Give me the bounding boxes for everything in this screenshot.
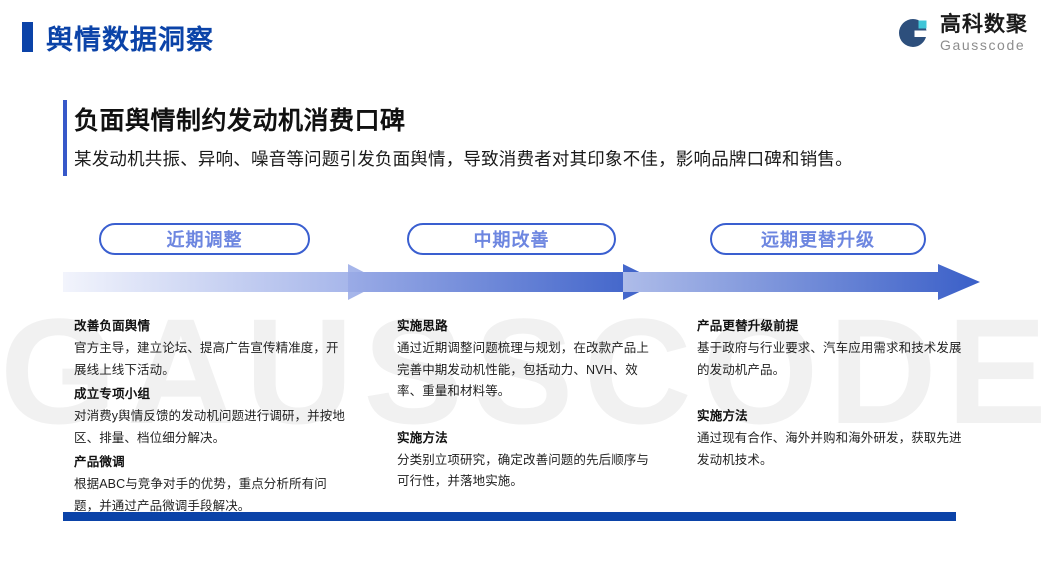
block-heading: 改善负面舆情: [74, 315, 349, 334]
block-body: 通过现有合作、海外并购和海外研发，获取先进发动机技术。: [697, 428, 965, 471]
block-heading: 产品微调: [74, 451, 349, 470]
phase-pill-label: 近期调整: [167, 226, 243, 252]
block-heading: 实施思路: [397, 315, 659, 334]
slide-root: GAUSSCODE 舆情数据洞察 高科数聚 Gausscode 负面舆情制约发动…: [0, 0, 1050, 588]
main-subtitle: 某发动机共振、异响、噪音等问题引发负面舆情，导致消费者对其印象不佳，影响品牌口碑…: [74, 146, 853, 171]
content-block: 产品更替升级前提 基于政府与行业要求、汽车应用需求和技术发展的发动机产品。: [697, 315, 965, 381]
block-heading: 实施方法: [397, 427, 659, 446]
logo-text: 高科数聚 Gausscode: [940, 14, 1028, 52]
footer-bar: [63, 512, 956, 521]
main-heading: 负面舆情制约发动机消费口碑: [74, 101, 406, 137]
header-bullet-icon: [22, 22, 33, 52]
block-heading: 产品更替升级前提: [697, 315, 965, 334]
phase-pill-label: 远期更替升级: [761, 226, 875, 252]
logo-name-en: Gausscode: [940, 38, 1028, 52]
gausscode-logo-icon: [895, 15, 931, 51]
phase-column-long-term: 产品更替升级前提 基于政府与行业要求、汽车应用需求和技术发展的发动机产品。 实施…: [697, 315, 965, 473]
brand-logo: 高科数聚 Gausscode: [895, 14, 1028, 52]
timeline-arrow: [63, 264, 980, 300]
block-body: 对消费y舆情反馈的发动机问题进行调研，并按地区、排量、档位细分解决。: [74, 406, 349, 449]
content-block: 成立专项小组 对消费y舆情反馈的发动机问题进行调研，并按地区、排量、档位细分解决…: [74, 383, 349, 449]
block-body: 分类别立项研究，确定改善问题的先后顺序与可行性，并落地实施。: [397, 450, 659, 493]
content-block: 实施方法 通过现有合作、海外并购和海外研发，获取先进发动机技术。: [697, 405, 965, 471]
block-body: 官方主导，建立论坛、提高广告宣传精准度，开展线上线下活动。: [74, 338, 349, 381]
phase-pill-label: 中期改善: [474, 226, 550, 252]
content-block: 产品微调 根据ABC与竞争对手的优势，重点分析所有问题，并通过产品微调手段解决。: [74, 451, 349, 517]
page-title: 舆情数据洞察: [46, 18, 214, 57]
phase-pill-mid-term[interactable]: 中期改善: [407, 223, 616, 255]
phase-pill-near-term[interactable]: 近期调整: [99, 223, 310, 255]
block-body: 通过近期调整问题梳理与规划，在改款产品上完善中期发动机性能，包括动力、NVH、效…: [397, 338, 659, 403]
heading-accent-bar: [63, 100, 67, 176]
block-body: 基于政府与行业要求、汽车应用需求和技术发展的发动机产品。: [697, 338, 965, 381]
block-body: 根据ABC与竞争对手的优势，重点分析所有问题，并通过产品微调手段解决。: [74, 474, 349, 517]
content-block: 改善负面舆情 官方主导，建立论坛、提高广告宣传精准度，开展线上线下活动。: [74, 315, 349, 381]
phase-column-mid-term: 实施思路 通过近期调整问题梳理与规划，在改款产品上完善中期发动机性能，包括动力、…: [397, 315, 659, 495]
block-heading: 实施方法: [697, 405, 965, 424]
phase-pill-long-term[interactable]: 远期更替升级: [710, 223, 926, 255]
content-block: 实施方法 分类别立项研究，确定改善问题的先后顺序与可行性，并落地实施。: [397, 427, 659, 493]
content-block: 实施思路 通过近期调整问题梳理与规划，在改款产品上完善中期发动机性能，包括动力、…: [397, 315, 659, 403]
slide-header: 舆情数据洞察: [0, 0, 1050, 72]
block-heading: 成立专项小组: [74, 383, 349, 402]
phase-column-near-term: 改善负面舆情 官方主导，建立论坛、提高广告宣传精准度，开展线上线下活动。 成立专…: [74, 315, 349, 519]
logo-name-cn: 高科数聚: [940, 14, 1028, 35]
